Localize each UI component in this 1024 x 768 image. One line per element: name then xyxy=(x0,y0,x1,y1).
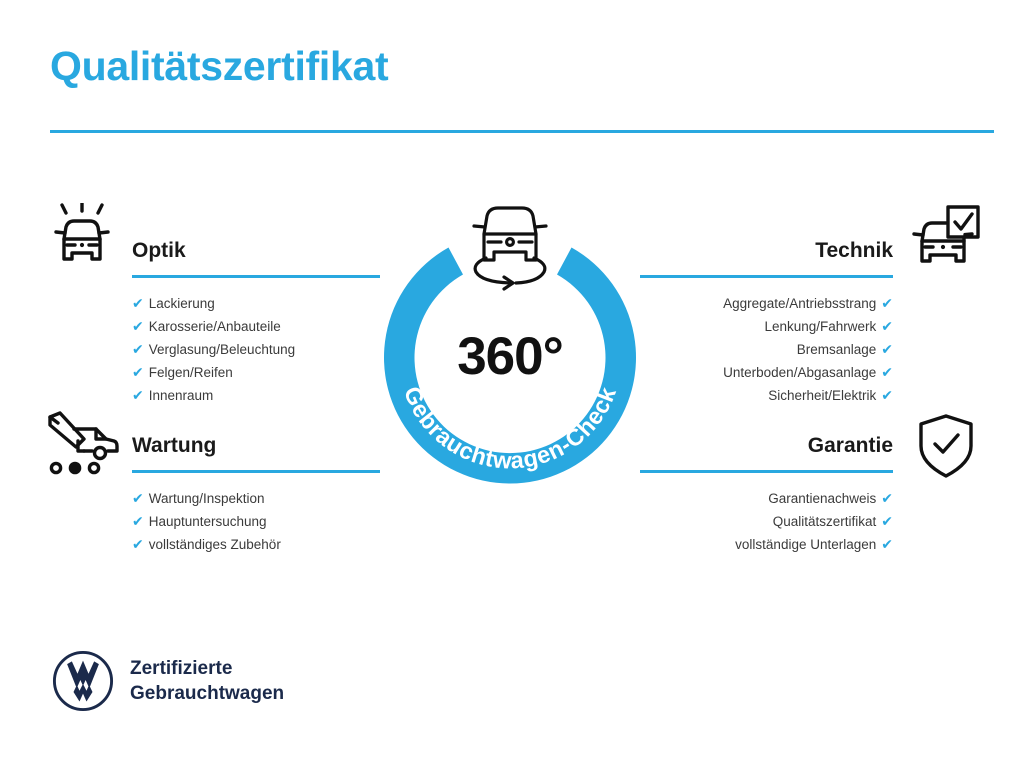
badge-curved-label: Gebrauchtwagen-Check xyxy=(399,383,621,474)
shield-check-icon xyxy=(916,413,976,484)
check-icon: ✔ xyxy=(132,490,144,506)
list-item: Qualitätszertifikat✔ xyxy=(640,510,893,533)
page-title: Qualitätszertifikat xyxy=(50,44,388,89)
brand-line-1: Zertifizierte xyxy=(130,656,284,681)
section-header: Wartung xyxy=(132,433,380,473)
list-item-label: Unterboden/Abgasanlage xyxy=(723,365,876,380)
section-item-list: ✔Wartung/Inspektion ✔Hauptuntersuchung ✔… xyxy=(132,487,380,556)
list-item-label: Aggregate/Antriebsstrang xyxy=(723,296,876,311)
section-item-list: ✔Lackierung ✔Karosserie/Anbauteile ✔Verg… xyxy=(132,292,380,407)
check-icon: ✔ xyxy=(132,536,144,552)
check-icon: ✔ xyxy=(881,490,893,506)
list-item: ✔Wartung/Inspektion xyxy=(132,487,380,510)
list-item: ✔Lackierung xyxy=(132,292,380,315)
list-item-label: Wartung/Inspektion xyxy=(149,491,265,506)
list-item-label: Sicherheit/Elektrik xyxy=(768,388,876,403)
check-icon: ✔ xyxy=(881,513,893,529)
car-checkbox-icon xyxy=(906,203,982,276)
list-item: Aggregate/Antriebsstrang✔ xyxy=(640,292,893,315)
list-item: ✔Karosserie/Anbauteile xyxy=(132,315,380,338)
section-technik: Technik Aggregate/Antriebsstrang✔ Lenkun… xyxy=(640,238,893,407)
certificate-page: Qualitätszertifikat xyxy=(0,0,1024,768)
list-item-label: Bremsanlage xyxy=(797,342,877,357)
list-item-label: Karosserie/Anbauteile xyxy=(149,319,281,334)
check-icon: ✔ xyxy=(881,318,893,334)
section-divider xyxy=(132,275,380,278)
section-divider xyxy=(132,470,380,473)
list-item-label: Lackierung xyxy=(149,296,215,311)
list-item-label: Lenkung/Fahrwerk xyxy=(764,319,876,334)
section-item-list: Aggregate/Antriebsstrang✔ Lenkung/Fahrwe… xyxy=(640,292,893,407)
badge-value: 360° xyxy=(379,328,641,386)
brand-line-2: Gebrauchtwagen xyxy=(130,681,284,706)
car-front-shine-icon xyxy=(46,203,118,276)
section-title: Optik xyxy=(132,238,380,264)
section-header: Optik xyxy=(132,238,380,278)
list-item: vollständige Unterlagen✔ xyxy=(640,533,893,556)
section-header: Garantie xyxy=(640,433,893,473)
check-icon: ✔ xyxy=(132,387,144,403)
list-item: ✔Verglasung/Beleuchtung xyxy=(132,338,380,361)
section-title: Wartung xyxy=(132,433,380,459)
list-item-label: vollständiges Zubehör xyxy=(149,537,281,552)
brand-lockup: Zertifizierte Gebrauchtwagen xyxy=(52,650,284,712)
list-item: Sicherheit/Elektrik✔ xyxy=(640,384,893,407)
check-icon: ✔ xyxy=(881,364,893,380)
check-icon: ✔ xyxy=(132,513,144,529)
car-rotation-icon xyxy=(460,196,560,292)
list-item-label: Garantienachweis xyxy=(768,491,876,506)
list-item: Bremsanlage✔ xyxy=(640,338,893,361)
list-item: Unterboden/Abgasanlage✔ xyxy=(640,361,893,384)
list-item: Lenkung/Fahrwerk✔ xyxy=(640,315,893,338)
list-item-label: vollständige Unterlagen xyxy=(735,537,876,552)
section-optik: Optik ✔Lackierung ✔Karosserie/Anbauteile… xyxy=(132,238,380,407)
list-item: ✔vollständiges Zubehör xyxy=(132,533,380,556)
badge-360-check: Gebrauchtwagen-Check 360° xyxy=(379,196,641,488)
list-item-label: Verglasung/Beleuchtung xyxy=(149,342,295,357)
check-icon: ✔ xyxy=(132,318,144,334)
list-item-label: Qualitätszertifikat xyxy=(773,514,877,529)
section-title: Garantie xyxy=(640,433,893,459)
list-item-label: Hauptuntersuchung xyxy=(149,514,267,529)
section-divider xyxy=(640,470,893,473)
list-item-label: Innenraum xyxy=(149,388,214,403)
check-icon: ✔ xyxy=(132,341,144,357)
section-wartung: Wartung ✔Wartung/Inspektion ✔Hauptunters… xyxy=(132,433,380,556)
section-title: Technik xyxy=(640,238,893,264)
check-icon: ✔ xyxy=(132,364,144,380)
car-service-wrench-icon xyxy=(44,411,120,482)
brand-text: Zertifizierte Gebrauchtwagen xyxy=(130,656,284,706)
check-icon: ✔ xyxy=(881,387,893,403)
list-item: ✔Felgen/Reifen xyxy=(132,361,380,384)
list-item: ✔Innenraum xyxy=(132,384,380,407)
section-item-list: Garantienachweis✔ Qualitätszertifikat✔ v… xyxy=(640,487,893,556)
title-divider xyxy=(50,130,994,133)
check-icon: ✔ xyxy=(881,536,893,552)
section-header: Technik xyxy=(640,238,893,278)
section-divider xyxy=(640,275,893,278)
vw-roundel-icon xyxy=(52,650,114,712)
check-icon: ✔ xyxy=(881,341,893,357)
check-icon: ✔ xyxy=(881,295,893,311)
list-item: Garantienachweis✔ xyxy=(640,487,893,510)
check-icon: ✔ xyxy=(132,295,144,311)
section-garantie: Garantie Garantienachweis✔ Qualitätszert… xyxy=(640,433,893,556)
list-item-label: Felgen/Reifen xyxy=(149,365,233,380)
list-item: ✔Hauptuntersuchung xyxy=(132,510,380,533)
